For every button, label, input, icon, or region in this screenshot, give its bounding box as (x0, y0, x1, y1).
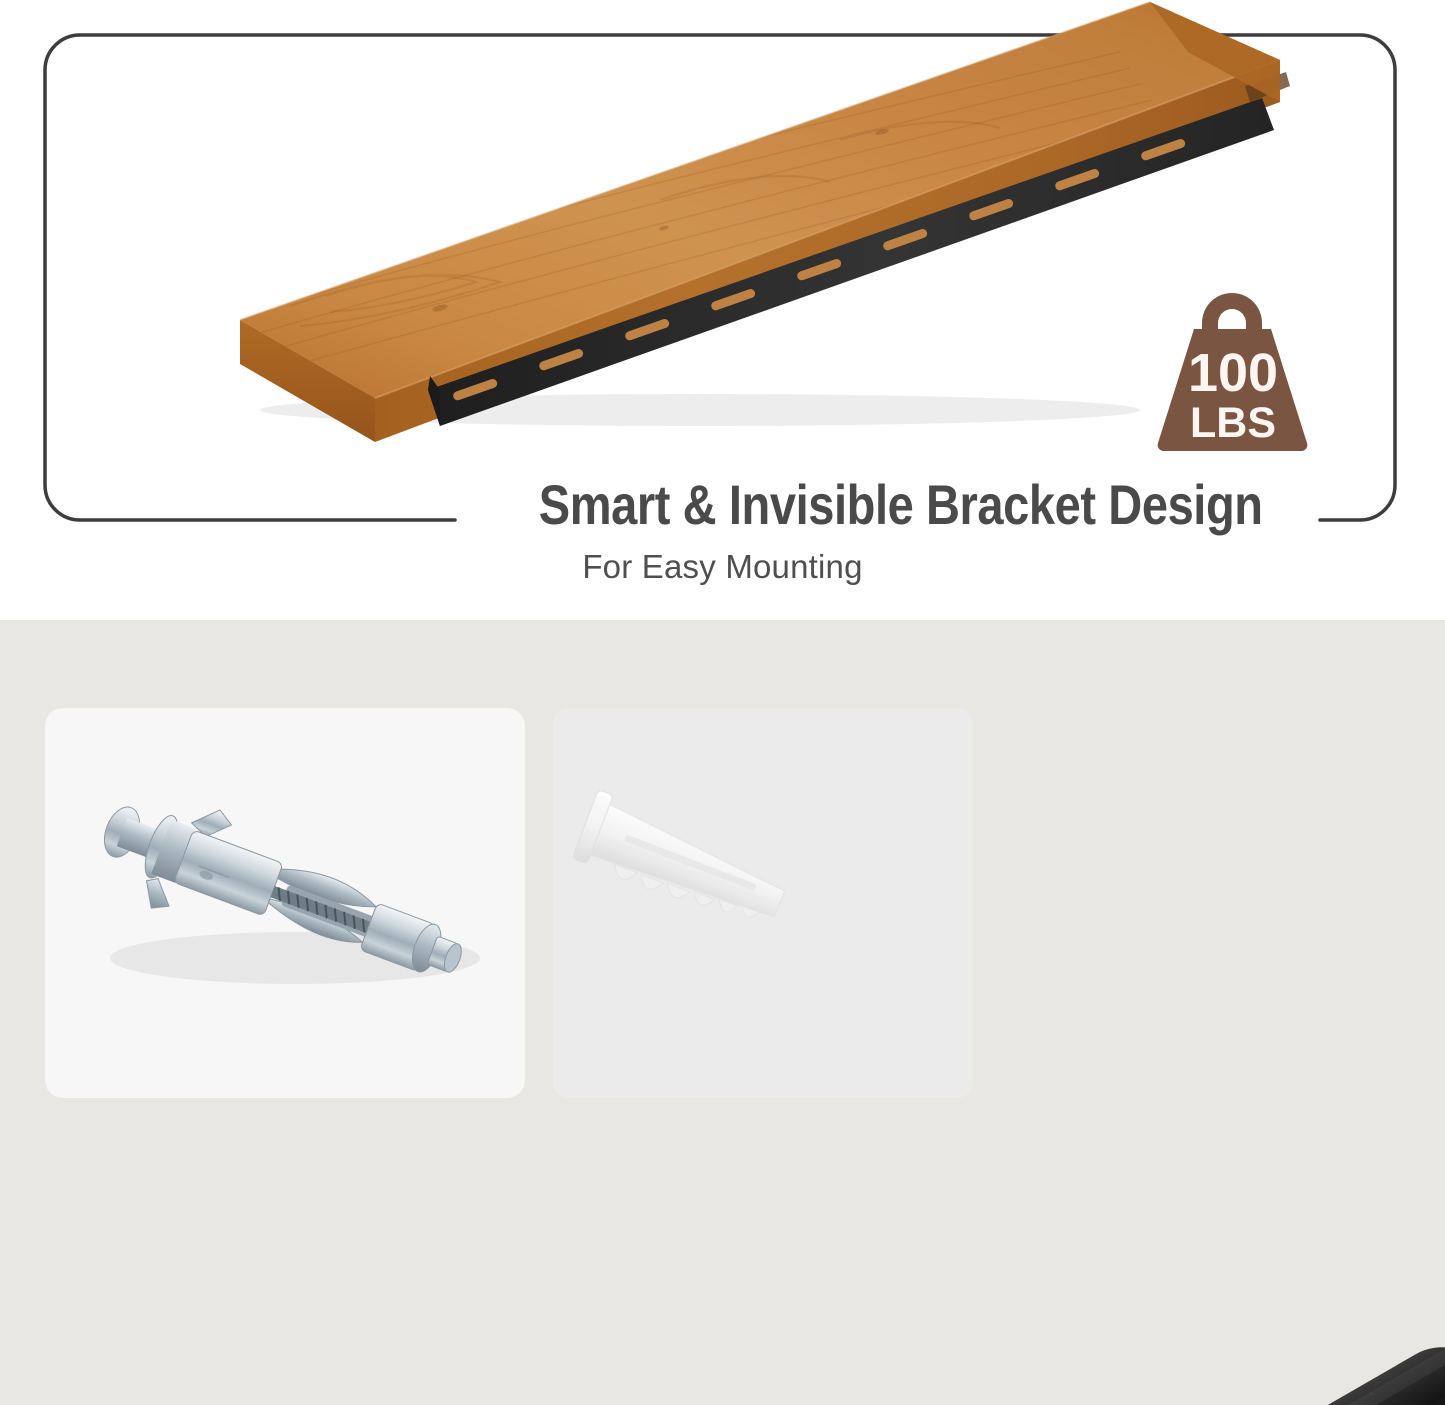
page-title: Smart & Invisible Bracket Design (539, 475, 1261, 535)
black-iron-pipe-image (820, 1320, 1445, 1405)
page-subtitle: For Easy Mounting (0, 548, 1445, 586)
floating-shelf-image (140, 0, 1320, 460)
weight-badge: 100 LBS (1150, 285, 1315, 455)
metal-anchor-card (45, 708, 525, 1098)
top-section: 100 LBS Smart & Invisible Bracket Design… (0, 0, 1445, 620)
product-infographic: 100 LBS Smart & Invisible Bracket Design… (0, 0, 1445, 1405)
bottom-section: Upgrade Metal Anchors heavy-duty Made of… (0, 620, 1445, 1405)
plastic-anchor-card (553, 708, 973, 1098)
metal-molly-bolt-anchor-image (45, 708, 525, 1098)
weight-value: 100 (1188, 343, 1278, 403)
iron-pipe-illustration (820, 1320, 1445, 1405)
weight-unit: LBS (1190, 399, 1276, 447)
weight-badge-icon: 100 LBS (1150, 285, 1315, 455)
plastic-drywall-anchor-image (553, 708, 973, 1098)
